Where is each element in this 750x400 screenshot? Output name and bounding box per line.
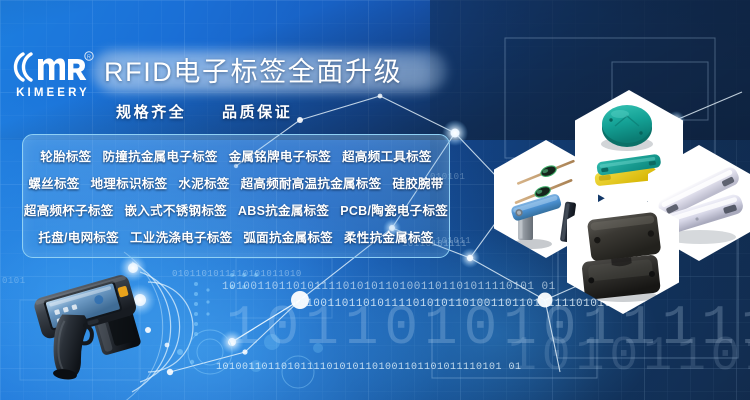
rfid-product-banner: 101101010111111010 101011010111101010110…: [0, 0, 750, 400]
vignette-overlay: [0, 0, 750, 400]
